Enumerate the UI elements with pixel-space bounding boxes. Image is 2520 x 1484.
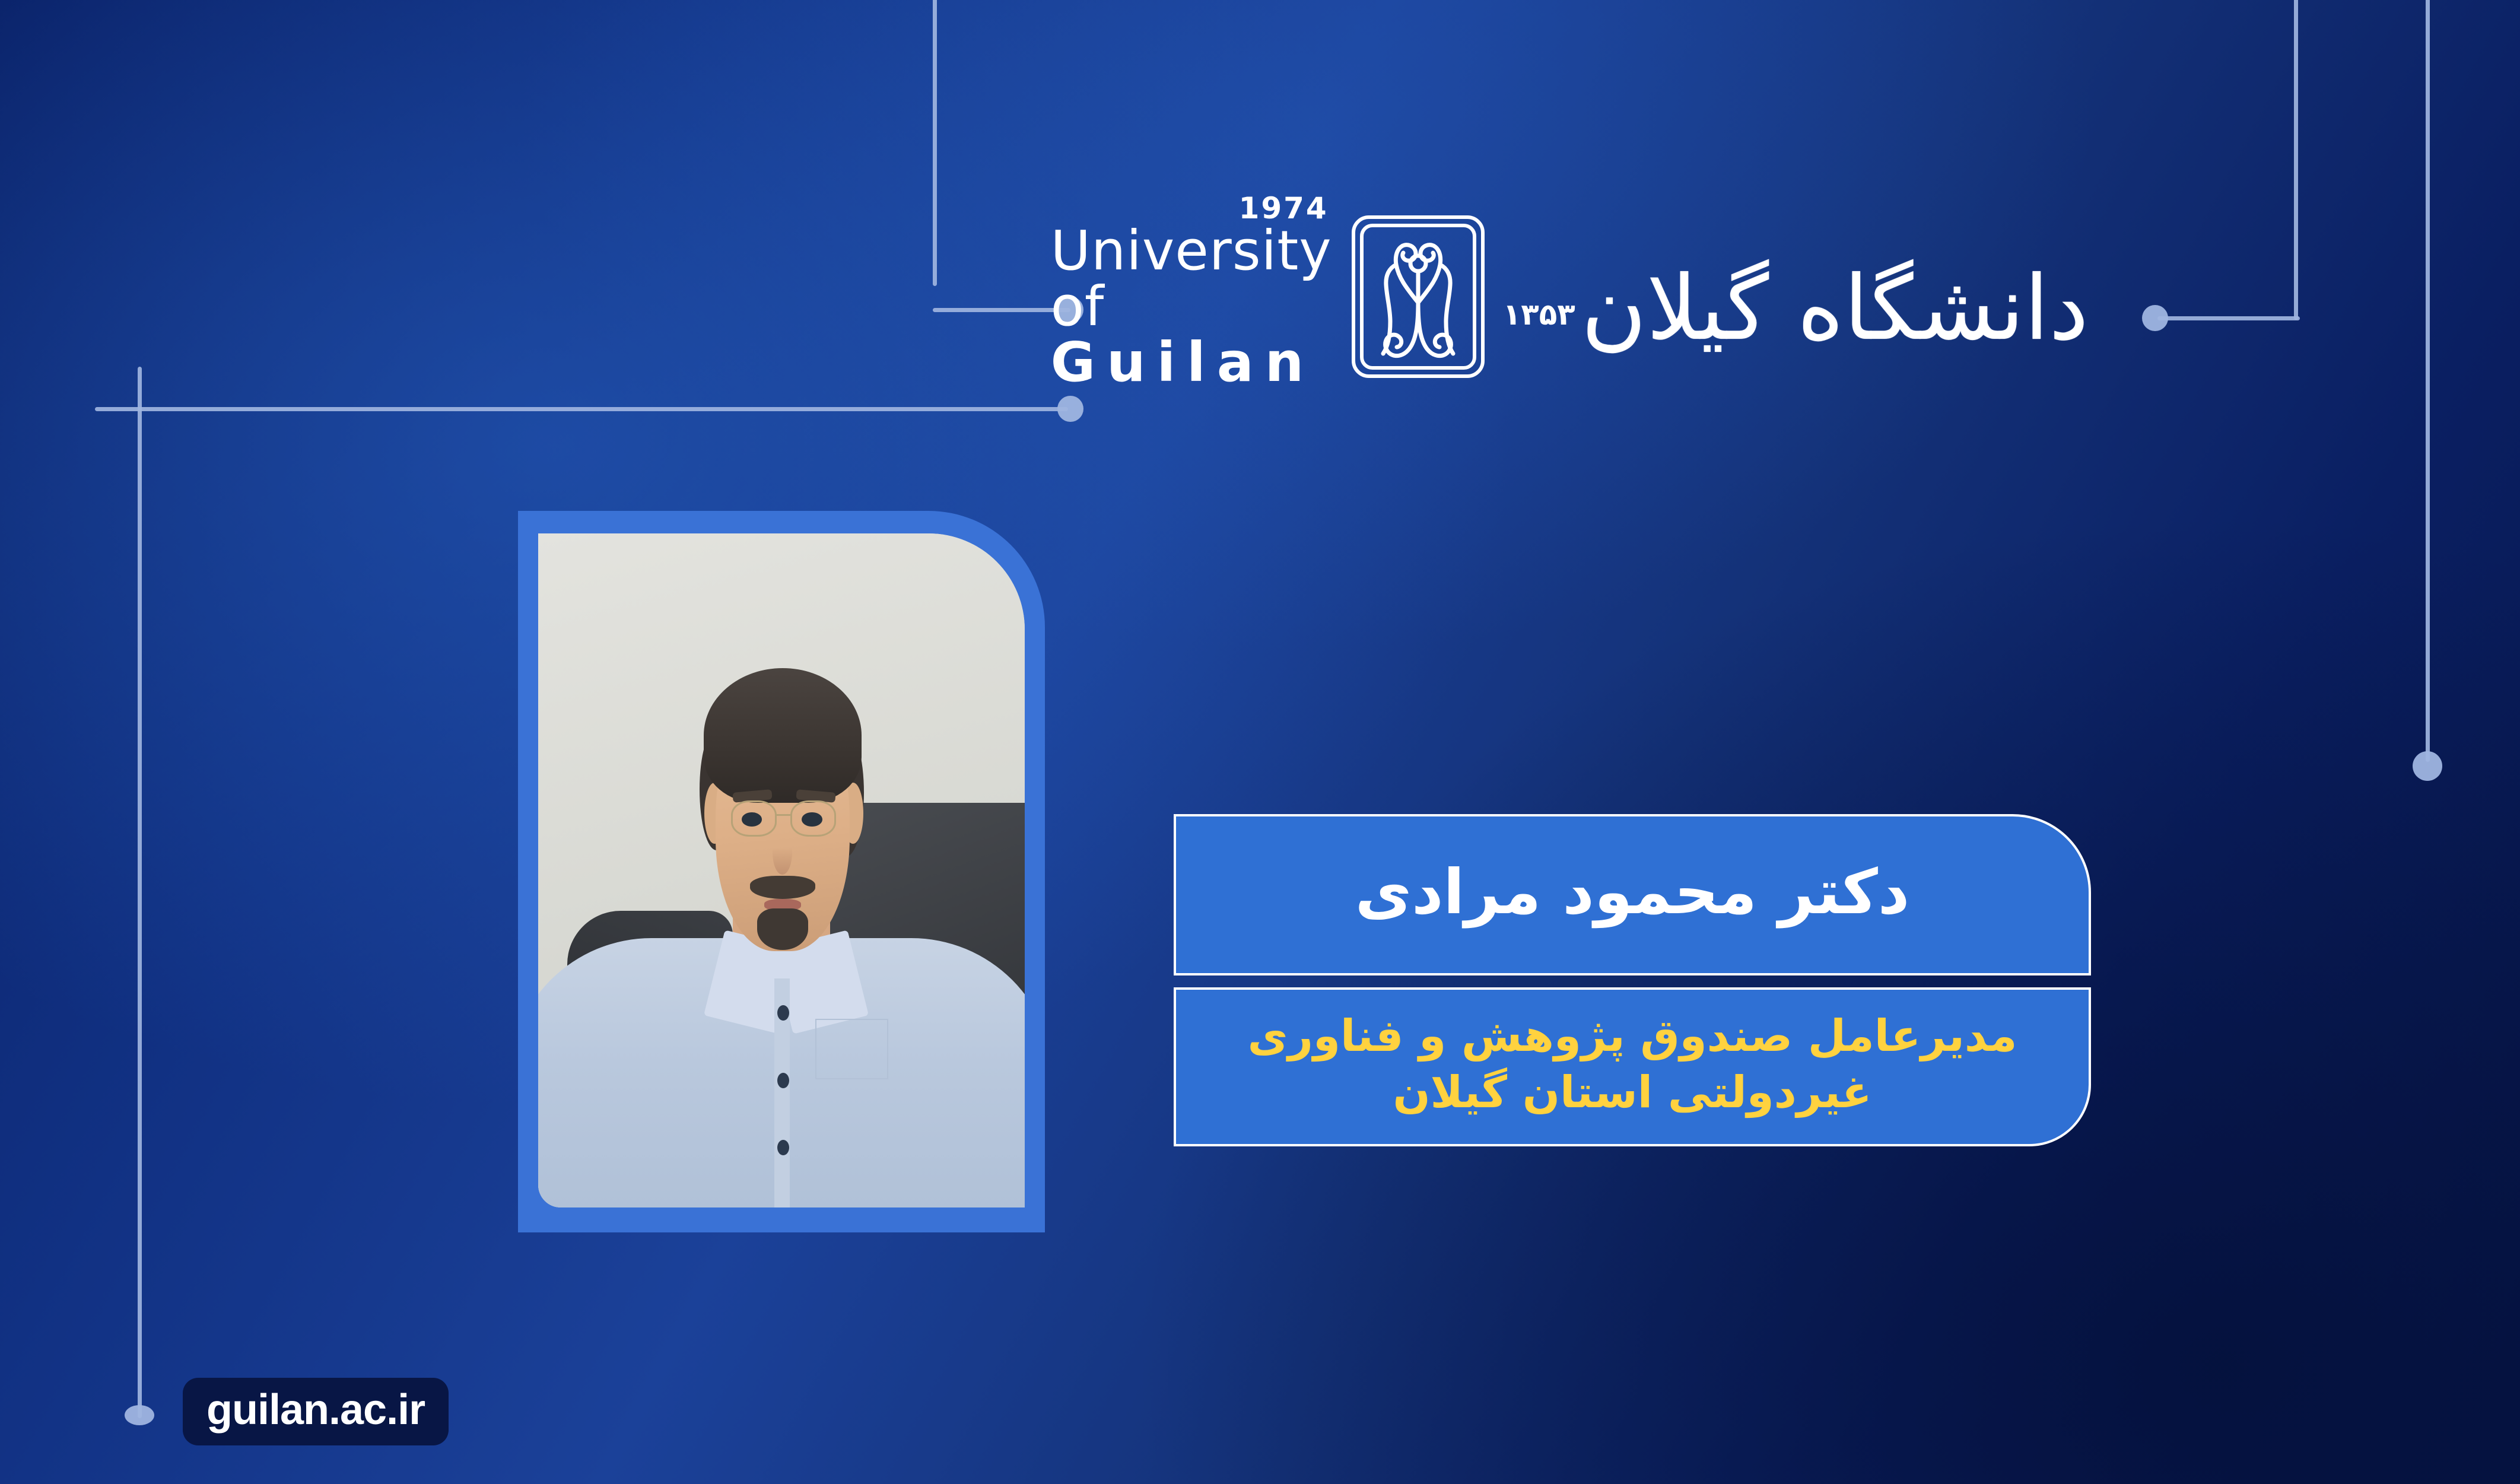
- decorative-dot-right-end: [2413, 751, 2442, 781]
- decorative-line-vertical-left: [138, 367, 142, 1418]
- decorative-line-horizontal-left: [95, 407, 1068, 411]
- decorative-line-horizontal-top-left: [933, 308, 1070, 312]
- logo-line-university: University of: [1051, 223, 1332, 335]
- person-role-banner: مدیرعامل صندوق پژوهش و فناوری غیردولتی ا…: [1174, 987, 2091, 1146]
- decorative-line-vertical-top-right: [2294, 0, 2298, 320]
- logo-year-latin: 1974: [1239, 193, 1329, 224]
- guilan-university-emblem-icon: [1344, 214, 1492, 380]
- website-url-badge[interactable]: guilan.ac.ir: [183, 1378, 449, 1445]
- person-role: مدیرعامل صندوق پژوهش و فناوری غیردولتی ا…: [1176, 1008, 2089, 1125]
- person-name-banner: دکتر محمود مرادی: [1174, 814, 2091, 975]
- eyeglass-bridge: [776, 814, 791, 816]
- decorative-dot-left-end: [1057, 396, 1083, 422]
- logo-name-persian: دانشگاه گیلان: [1581, 264, 2089, 353]
- logo-line-guilan: Guilan: [1051, 335, 1332, 390]
- eyeglass-lens-right: [790, 800, 836, 837]
- decorative-line-vertical-right: [2426, 0, 2430, 762]
- logo-year-persian: ۱۳۵۳: [1503, 297, 1575, 332]
- hair-top: [704, 668, 862, 803]
- person-name: دکتر محمود مرادی: [1355, 861, 1909, 929]
- beard: [757, 908, 808, 950]
- university-logo: 1974 University of Guilan دان: [1163, 196, 2089, 398]
- decorative-line-horizontal-top-right: [2157, 316, 2300, 320]
- shirt-pocket: [815, 1019, 888, 1079]
- logo-latin-wordmark: 1974 University of Guilan: [1051, 203, 1332, 390]
- portrait-photo: [538, 533, 1025, 1207]
- moustache: [750, 876, 816, 899]
- announcement-card: 1974 University of Guilan دان: [0, 0, 2520, 1484]
- decorative-dot-top-left: [1057, 297, 1083, 323]
- nose: [773, 830, 792, 875]
- decorative-dot-left-bottom: [125, 1405, 154, 1425]
- decorative-dot-top-right: [2142, 305, 2168, 331]
- website-url: guilan.ac.ir: [206, 1386, 425, 1434]
- portrait-frame: [518, 511, 1045, 1232]
- logo-persian-wordmark: دانشگاه گیلان ۱۳۵۳: [1501, 240, 2089, 353]
- decorative-line-vertical-top-left: [933, 0, 937, 286]
- eyeglass-lens-left: [731, 800, 777, 837]
